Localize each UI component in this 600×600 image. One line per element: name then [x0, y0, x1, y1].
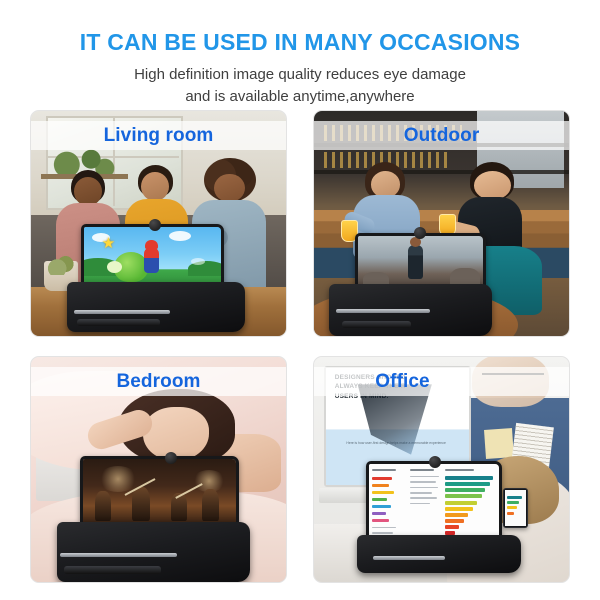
magnified-screen-content-game: ★	[84, 227, 221, 288]
product-infographic: IT CAN BE USED IN MANY OCCASIONS High de…	[0, 0, 600, 600]
magnified-screen-content-concert	[83, 459, 236, 526]
header: IT CAN BE USED IN MANY OCCASIONS High de…	[0, 0, 600, 107]
subtitle-line-1: High definition image quality reduces ey…	[0, 64, 600, 85]
panel-label-band-bedroom: Bedroom	[31, 367, 286, 396]
occasion-panel-office[interactable]: DESIGNERS SHOULD ALWAYS KEEP THEIR USERS…	[313, 356, 570, 583]
screen-magnifier-device-living-room: ★	[67, 224, 246, 332]
occasion-grid: ★ Living room	[0, 110, 600, 583]
panel-label-band-outdoor: Outdoor	[314, 121, 569, 150]
smartphone	[503, 488, 528, 528]
panel-label-bedroom: Bedroom	[116, 372, 200, 391]
page-title: IT CAN BE USED IN MANY OCCASIONS	[0, 30, 600, 55]
panel-label-office: Office	[375, 372, 429, 391]
panel-label-band-living-room: Living room	[31, 121, 286, 150]
panel-label-band-office: Office	[314, 367, 569, 396]
magnified-screen-content-movie	[358, 236, 483, 290]
screen-magnifier-device-outdoor	[329, 233, 492, 337]
screen-magnifier-device-office	[360, 461, 518, 574]
page-subtitle: High definition image quality reduces ey…	[0, 64, 600, 107]
occasion-panel-bedroom[interactable]: Bedroom	[30, 356, 287, 583]
occasion-panel-living-room[interactable]: ★ Living room	[30, 110, 287, 337]
occasion-panel-outdoor[interactable]: Outdoor	[313, 110, 570, 337]
panel-label-living-room: Living room	[104, 126, 214, 145]
panel-label-outdoor: Outdoor	[404, 126, 480, 145]
subtitle-line-2: and is available anytime,anywhere	[0, 86, 600, 107]
magnified-screen-content-dashboard	[369, 464, 499, 541]
screen-magnifier-device-bedroom	[57, 456, 251, 582]
